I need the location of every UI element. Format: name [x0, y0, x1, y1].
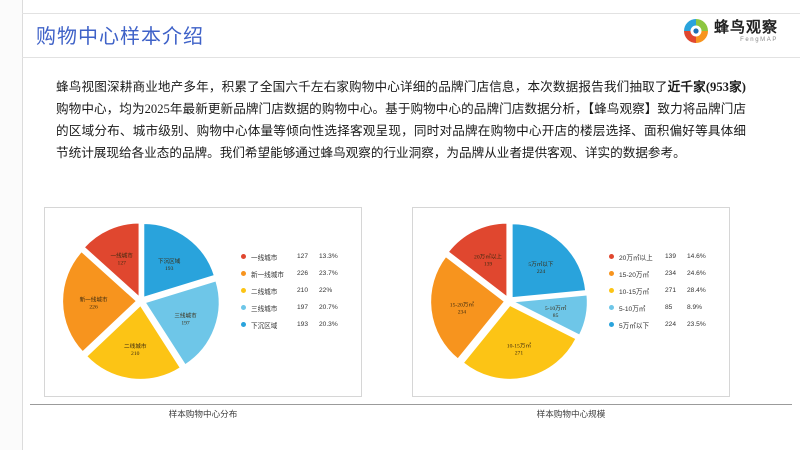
legend-mall-scale: 20万㎡以上13914.6%15-20万㎡23424.6%10-15万㎡2712… — [609, 248, 727, 333]
legend-item-count: 226 — [297, 270, 319, 277]
legend-item-percent: 24.6% — [687, 270, 717, 277]
legend-item-label: 10-15万㎡ — [619, 286, 665, 296]
legend-color-swatch-icon — [609, 271, 614, 276]
legend-item-count: 197 — [297, 304, 319, 311]
legend-item-percent: 28.4% — [687, 287, 717, 294]
legend-mall-distribution: 一线城市12713.3%新一线城市22623.7%二线城市21022%三线城市1… — [241, 248, 359, 333]
legend-item-label: 5万㎡以下 — [619, 320, 665, 330]
legend-item-label: 5-10万㎡ — [619, 303, 665, 313]
legend-color-swatch-icon — [241, 288, 246, 293]
legend-color-swatch-icon — [241, 305, 246, 310]
legend-item-label: 新一线城市 — [251, 269, 297, 279]
pie-slice-value: 127 — [118, 261, 127, 267]
legend-item[interactable]: 一线城市12713.3% — [241, 248, 359, 265]
pie-slice-label: 5-10万㎡ — [545, 304, 567, 312]
pie-slice-label: 5万㎡以下 — [528, 260, 554, 268]
legend-item[interactable]: 新一线城市22623.7% — [241, 265, 359, 282]
pie-slice-value: 234 — [458, 310, 467, 316]
legend-item[interactable]: 20万㎡以上13914.6% — [609, 248, 727, 265]
legend-item-count: 139 — [665, 253, 687, 260]
legend-color-swatch-icon — [241, 322, 246, 327]
legend-item-count: 271 — [665, 287, 687, 294]
legend-item-label: 下沉区域 — [251, 320, 297, 330]
legend-color-swatch-icon — [609, 254, 614, 259]
legend-item-count: 193 — [297, 321, 319, 328]
pie-slice-label: 下沉区域 — [158, 257, 181, 265]
legend-item[interactable]: 5万㎡以下22423.5% — [609, 316, 727, 333]
legend-color-swatch-icon — [609, 288, 614, 293]
chart-caption-mall-scale: 样本购物中心规模 — [412, 408, 730, 420]
legend-item-count: 224 — [665, 321, 687, 328]
legend-item[interactable]: 二线城市21022% — [241, 282, 359, 299]
legend-item-percent: 14.6% — [687, 253, 717, 260]
brand-name-cn: 蜂鸟观察 — [714, 20, 778, 35]
legend-item-count: 127 — [297, 253, 319, 260]
chart-caption-mall-distribution: 样本购物中心分布 — [44, 408, 362, 420]
legend-color-swatch-icon — [609, 305, 614, 310]
pie-slice-value: 139 — [484, 261, 493, 267]
pie-slice-label: 一线城市 — [111, 252, 134, 260]
pie-slice-label: 二线城市 — [124, 342, 147, 350]
header-bottom-rule — [22, 57, 800, 58]
intro-paragraph: 蜂鸟视图深耕商业地产多年，积累了全国六千左右家购物中心详细的品牌门店信息，本次数… — [56, 76, 746, 164]
legend-color-swatch-icon — [241, 271, 246, 276]
legend-item[interactable]: 三线城市19720.7% — [241, 299, 359, 316]
chart-panel-mall-scale: 5万㎡以下2245-10万㎡8510-15万㎡27115-20万㎡23420万㎡… — [412, 207, 730, 397]
chart-panel-mall-distribution: 下沉区域193三线城市197二线城市210新一线城市226一线城市127 一线城… — [44, 207, 362, 397]
legend-item-label: 一线城市 — [251, 252, 297, 262]
legend-item-percent: 8.9% — [687, 304, 717, 311]
legend-item-label: 20万㎡以上 — [619, 252, 665, 262]
pie-slice-value: 193 — [165, 266, 174, 272]
pie-slice-value: 224 — [537, 269, 546, 275]
legend-color-swatch-icon — [241, 254, 246, 259]
legend-color-swatch-icon — [609, 322, 614, 327]
legend-item-percent: 13.3% — [319, 253, 349, 260]
legend-item-label: 三线城市 — [251, 303, 297, 313]
footer-rule — [30, 404, 792, 405]
legend-item-percent: 22% — [319, 287, 349, 294]
legend-item-percent: 23.5% — [687, 321, 717, 328]
legend-item-count: 234 — [665, 270, 687, 277]
pie-slice-value: 210 — [131, 351, 140, 357]
pie-slice-label: 10-15万㎡ — [507, 341, 532, 349]
page-title: 购物中心样本介绍 — [36, 20, 204, 49]
pie-slice-label: 20万㎡以上 — [474, 252, 502, 260]
pie-chart-mall-scale: 5万㎡以下2245-10万㎡8510-15万㎡27115-20万㎡23420万㎡… — [421, 216, 597, 390]
fengmap-pinwheel-icon — [683, 18, 709, 44]
legend-item[interactable]: 10-15万㎡27128.4% — [609, 282, 727, 299]
legend-item-count: 210 — [297, 287, 319, 294]
legend-item-label: 二线城市 — [251, 286, 297, 296]
legend-item[interactable]: 15-20万㎡23424.6% — [609, 265, 727, 282]
legend-item-label: 15-20万㎡ — [619, 269, 665, 279]
pie-slice-label: 新一线城市 — [80, 296, 108, 304]
pie-slice-value: 197 — [181, 320, 190, 326]
pie-slice-label: 15-20万㎡ — [450, 301, 475, 309]
legend-item[interactable]: 下沉区域19320.3% — [241, 316, 359, 333]
brand-logo-text: 蜂鸟观察 FengMAP — [714, 20, 778, 43]
pie-slice-value: 226 — [89, 305, 98, 311]
pie-slice-value: 85 — [553, 313, 559, 319]
legend-item-percent: 23.7% — [319, 270, 349, 277]
brand-name-en: FengMAP — [714, 37, 778, 43]
legend-item[interactable]: 5-10万㎡858.9% — [609, 299, 727, 316]
legend-item-percent: 20.3% — [319, 321, 349, 328]
brand-logo: 蜂鸟观察 FengMAP — [683, 18, 778, 44]
legend-item-count: 85 — [665, 304, 687, 311]
legend-item-percent: 20.7% — [319, 304, 349, 311]
pie-chart-mall-distribution: 下沉区域193三线城市197二线城市210新一线城市226一线城市127 — [53, 216, 229, 390]
pie-slice[interactable] — [512, 224, 586, 298]
pie-slice-label: 三线城市 — [174, 311, 197, 319]
header-top-rule — [22, 13, 800, 14]
pie-slice-value: 271 — [515, 350, 524, 356]
left-gutter — [0, 0, 23, 450]
slide-page: 购物中心样本介绍 蜂鸟观察 FengMAP 蜂鸟视图深耕商业地产多年，积累了全国… — [0, 0, 800, 450]
